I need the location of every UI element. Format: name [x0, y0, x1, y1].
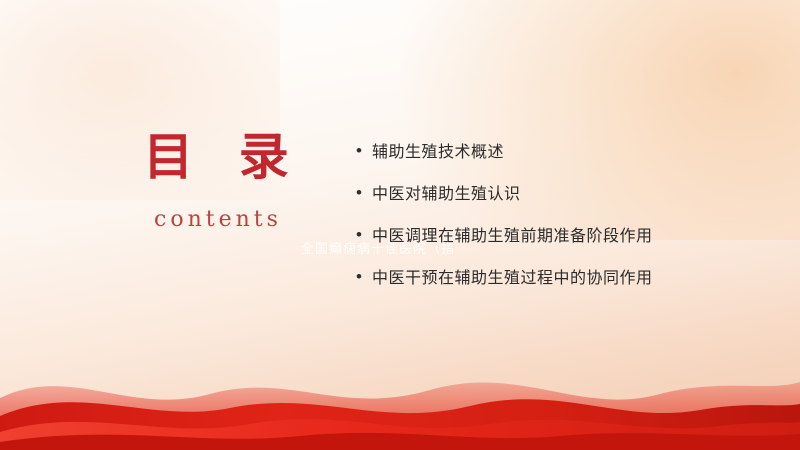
list-item-label: 中医干预在辅助生殖过程中的协同作用: [372, 264, 653, 292]
slide-canvas: 目 录 contents • 辅助生殖技术概述 • 中医对辅助生殖认识 • 中医…: [0, 0, 800, 450]
bullet-icon: •: [356, 264, 372, 290]
list-item[interactable]: • 辅助生殖技术概述: [356, 138, 724, 166]
list-item-label: 中医对辅助生殖认识: [372, 180, 521, 208]
bullet-icon: •: [356, 180, 372, 206]
list-item-label: 中医调理在辅助生殖前期准备阶段作用: [372, 222, 653, 250]
title-block: 目 录 contents: [96, 126, 336, 232]
list-item[interactable]: • 中医调理在辅助生殖前期准备阶段作用: [356, 222, 724, 250]
list-item[interactable]: • 中医对辅助生殖认识: [356, 180, 724, 208]
red-ribbon-decoration: [0, 320, 800, 450]
list-item[interactable]: • 中医干预在辅助生殖过程中的协同作用: [356, 264, 724, 292]
list-item-label: 辅助生殖技术概述: [372, 138, 504, 166]
bullet-icon: •: [356, 138, 372, 164]
bullet-icon: •: [356, 222, 372, 248]
page-title-cn: 目 录: [96, 126, 336, 189]
table-of-contents: • 辅助生殖技术概述 • 中医对辅助生殖认识 • 中医调理在辅助生殖前期准备阶段…: [356, 138, 724, 306]
page-title-en: contents: [96, 207, 336, 232]
